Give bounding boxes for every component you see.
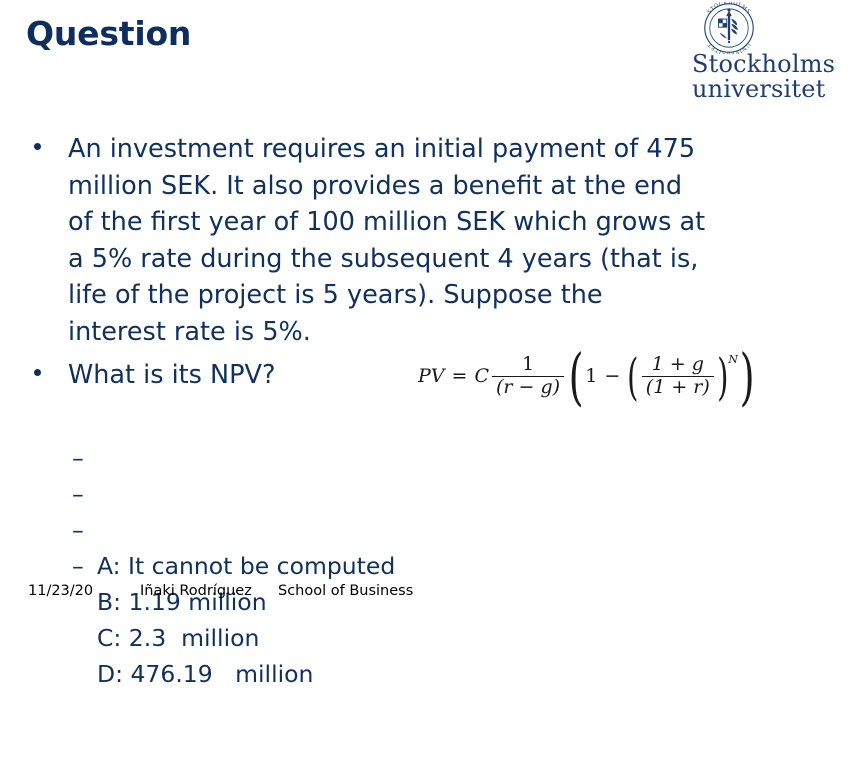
sub-bullet-dash-icon: – — [72, 440, 84, 476]
formula-coefficient: C — [474, 365, 489, 387]
present-value-formula: PV = C 1 (r − g) ( 1 − ( 1 + g (1 + r) )… — [418, 344, 756, 408]
formula-exponent: N — [728, 353, 738, 366]
answer-option-b[interactable]: – B: 1.19 million — [72, 476, 692, 512]
formula-inner-close-paren: ) — [717, 358, 728, 397]
formula-minus: − — [604, 365, 620, 387]
formula-fraction-2: 1 + g (1 + r) — [642, 355, 714, 398]
footer-date: 11/23/20 — [28, 581, 93, 601]
footer-author: Iñaki Rodríguez — [140, 581, 252, 601]
bullet-item-1: An investment requires an initial paymen… — [34, 131, 714, 350]
page-title: Question — [26, 14, 191, 54]
footer-department: School of Business — [278, 581, 413, 601]
sub-bullet-dash-icon: – — [72, 548, 84, 584]
answer-option-d[interactable]: – D: 476.19 million — [72, 548, 692, 584]
bullet-item-2-text: What is its NPV? — [68, 357, 374, 394]
stockholm-university-logo: STOCKHOLMS UNIVERSITET — [676, 2, 854, 102]
formula-lhs: PV — [418, 365, 445, 387]
formula-frac1-denominator: (r − g) — [492, 376, 564, 398]
formula-one: 1 — [585, 365, 597, 387]
formula-equals: = — [452, 365, 468, 387]
slide-footer: 11/23/20 Iñaki Rodríguez School of Busin… — [0, 581, 854, 605]
formula-inner-open-paren: ( — [627, 358, 638, 397]
formula-close-paren: ) — [740, 353, 755, 401]
formula-fraction-1: 1 (r − g) — [492, 355, 564, 398]
logo-wordmark: Stockholms universitet — [692, 52, 835, 102]
answer-options-list: – A: It cannot be computed – B: 1.19 mil… — [72, 440, 692, 584]
answer-option-c[interactable]: – C: 2.3 million — [72, 512, 692, 548]
formula-frac1-numerator: 1 — [518, 355, 538, 376]
answer-option-a[interactable]: – A: It cannot be computed — [72, 440, 692, 476]
logo-wordmark-line2: universitet — [692, 77, 835, 102]
formula-frac2-denominator: (1 + r) — [642, 376, 714, 398]
slide-canvas: Question STOCKHOLMS UNIVERSITET — [0, 0, 854, 640]
bullet-item-1-text: An investment requires an initial paymen… — [68, 131, 708, 350]
bullet-dot-icon — [34, 143, 41, 150]
bullet-item-2: What is its NPV? — [34, 357, 374, 394]
sub-bullet-dash-icon: – — [72, 476, 84, 512]
logo-wordmark-line1: Stockholms — [692, 50, 835, 78]
formula-open-paren: ( — [569, 353, 584, 401]
bullet-dot-icon — [34, 369, 41, 376]
answer-option-d-label: D: 476.19 million — [97, 656, 692, 692]
formula-frac2-numerator: 1 + g — [648, 355, 708, 376]
stockholm-university-seal-icon: STOCKHOLMS UNIVERSITET — [698, 2, 760, 54]
sub-bullet-dash-icon: – — [72, 512, 84, 548]
